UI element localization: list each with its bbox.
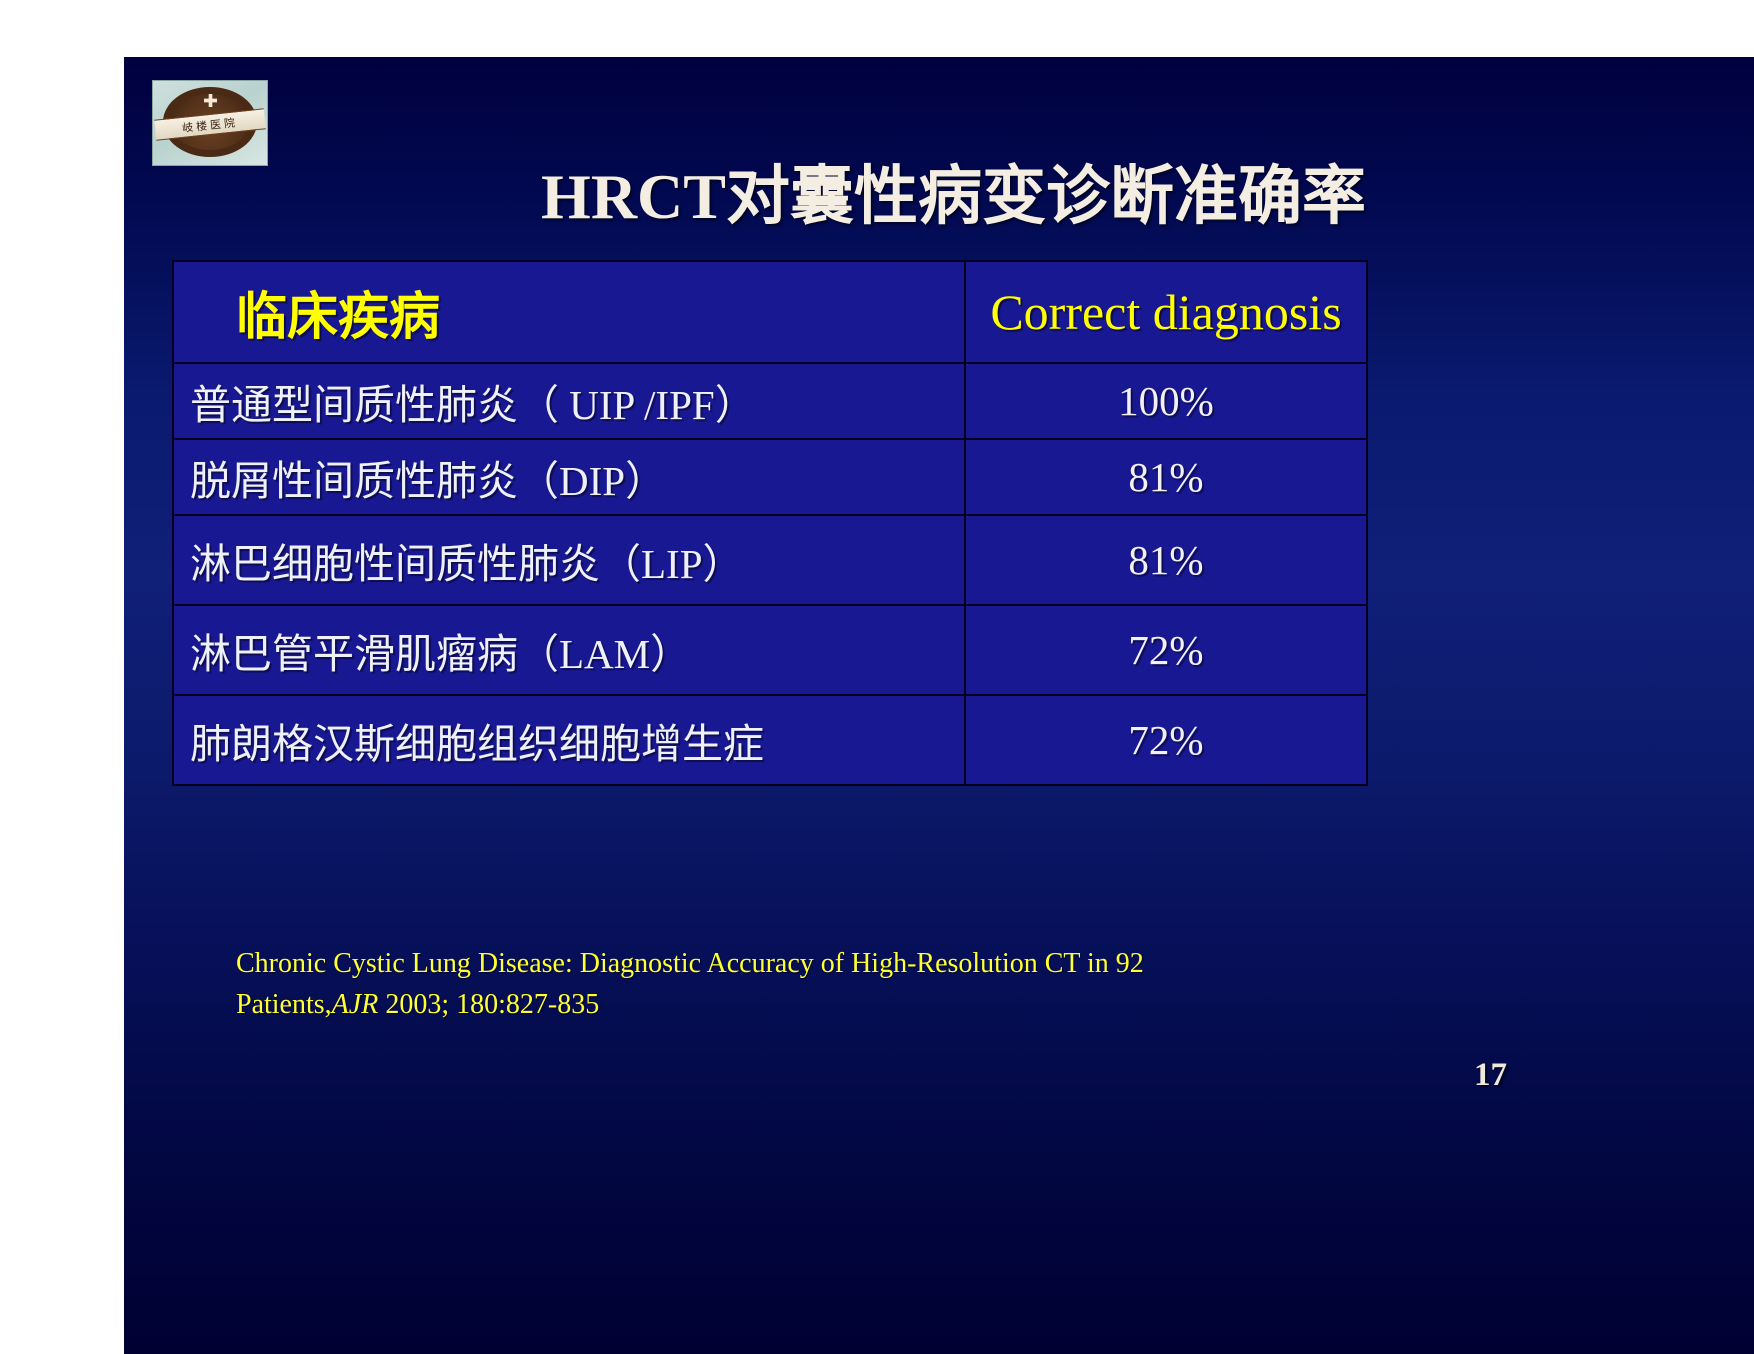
disease-label: 普通型间质性肺炎（ UIP /IPF） [174,371,964,431]
citation-journal: AJR [332,989,379,1020]
cell-accuracy: 81% [965,515,1367,605]
table-header-row: 临床疾病 Correct diagnosis [173,261,1367,363]
cell-disease: 普通型间质性肺炎（ UIP /IPF） [173,363,965,439]
table-row: 淋巴管平滑肌瘤病（LAM） 72% [173,605,1367,695]
slide-canvas: 岐楼医院 HRCT对囊性病变诊断准确率 临床疾病 Correct diagnos… [124,57,1754,1354]
table-row: 脱屑性间质性肺炎（DIP） 81% [173,439,1367,515]
header-label-disease: 临床疾病 [174,275,964,349]
accuracy-value: 100% [966,377,1366,425]
accuracy-value: 81% [966,536,1366,584]
accuracy-table-container: 临床疾病 Correct diagnosis 普通型间质性肺炎（ UIP /IP… [172,260,1362,786]
header-cell-disease: 临床疾病 [173,261,965,363]
table-row: 普通型间质性肺炎（ UIP /IPF） 100% [173,363,1367,439]
header-cell-accuracy: Correct diagnosis [965,261,1367,363]
cell-disease: 脱屑性间质性肺炎（DIP） [173,439,965,515]
accuracy-value: 72% [966,716,1366,764]
cell-disease: 淋巴细胞性间质性肺炎（LIP） [173,515,965,605]
disease-label: 淋巴管平滑肌瘤病（LAM） [174,620,964,680]
accuracy-table: 临床疾病 Correct diagnosis 普通型间质性肺炎（ UIP /IP… [172,260,1368,786]
disease-label: 脱屑性间质性肺炎（DIP） [174,447,964,507]
accuracy-value: 81% [966,453,1366,501]
cell-disease: 肺朗格汉斯细胞组织细胞增生症 [173,695,965,785]
source-citation: Chronic Cystic Lung Disease: Diagnostic … [236,944,1486,1025]
citation-line-1: Chronic Cystic Lung Disease: Diagnostic … [236,948,1144,979]
cell-accuracy: 81% [965,439,1367,515]
page-number: 17 [1474,1057,1507,1094]
disease-label: 淋巴细胞性间质性肺炎（LIP） [174,530,964,590]
cell-accuracy: 72% [965,605,1367,695]
cell-accuracy: 72% [965,695,1367,785]
disease-label: 肺朗格汉斯细胞组织细胞增生症 [174,710,964,770]
accuracy-value: 72% [966,626,1366,674]
citation-line-2-suffix: 2003; 180:827-835 [378,989,599,1020]
page-title: HRCT对囊性病变诊断准确率 [124,145,1754,237]
cell-accuracy: 100% [965,363,1367,439]
table-row: 肺朗格汉斯细胞组织细胞增生症 72% [173,695,1367,785]
citation-line-2-prefix: Patients, [236,989,332,1020]
table-row: 淋巴细胞性间质性肺炎（LIP） 81% [173,515,1367,605]
header-label-accuracy: Correct diagnosis [966,283,1366,341]
cell-disease: 淋巴管平滑肌瘤病（LAM） [173,605,965,695]
